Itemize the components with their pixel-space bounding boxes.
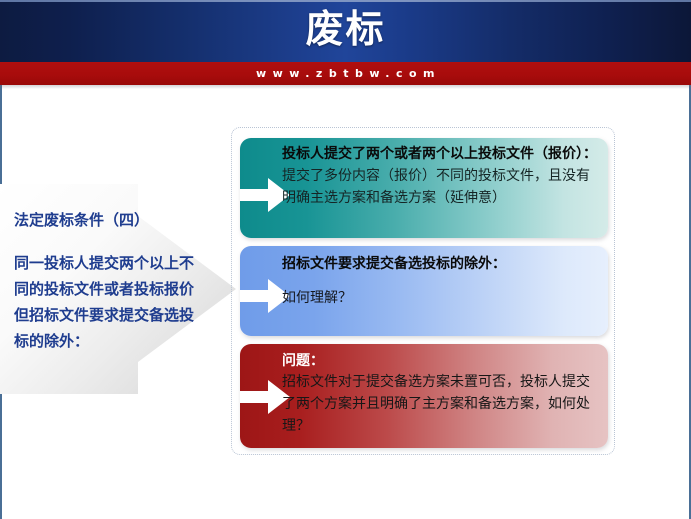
content-box-teal[interactable]: 投标人提交了两个或者两个以上投标文件（报价）： 提交了多份内容（报价）不同的投标…	[240, 138, 608, 238]
left-arrow-body: 同一投标人提交两个以上不同的投标文件或者投标报价但招标文件要求提交备选投标的除外…	[14, 250, 204, 354]
red-text-block: 问题： 招标文件对于提交备选方案未置可否，投标人提交了两个方案并且明确了主方案和…	[282, 351, 600, 437]
teal-box-title: 投标人提交了两个或者两个以上投标文件（报价）：	[282, 144, 600, 165]
header-top-highlight	[0, 0, 691, 2]
header-banner: 废标	[0, 0, 691, 62]
left-arrow-text-block: 法定废标条件（四） 同一投标人提交两个以上不同的投标文件或者投标报价但招标文件要…	[14, 207, 204, 354]
site-url-bar: www.zbtbw.com	[0, 62, 691, 85]
teal-text-block: 投标人提交了两个或者两个以上投标文件（报价）： 提交了多份内容（报价）不同的投标…	[282, 144, 600, 209]
content-box-blue[interactable]: 招标文件要求提交备选投标的除外： 如何理解？	[240, 246, 608, 336]
blue-box-body: 如何理解？	[282, 287, 600, 309]
teal-box-body: 提交了多份内容（报价）不同的投标文件，且没有明确主选方案和备选方案（延伸意）	[282, 165, 600, 209]
content-box-red[interactable]: 问题： 招标文件对于提交备选方案未置可否，投标人提交了两个方案并且明确了主方案和…	[240, 344, 608, 448]
page-title: 废标	[0, 6, 691, 52]
red-box-body: 招标文件对于提交备选方案未置可否，投标人提交了两个方案并且明确了主方案和备选方案…	[282, 371, 600, 437]
left-arrow-heading: 法定废标条件（四）	[14, 207, 204, 233]
blue-text-block: 招标文件要求提交备选投标的除外： 如何理解？	[282, 254, 600, 309]
site-url-text: www.zbtbw.com	[0, 62, 691, 85]
url-bar-dropshadow	[0, 85, 691, 89]
slide-canvas: 废标 www.zbtbw.com 法定废标条件（四） 同一投标人提交两个以上不同…	[0, 0, 691, 519]
blue-box-title: 招标文件要求提交备选投标的除外：	[282, 254, 600, 275]
red-box-title: 问题：	[282, 351, 600, 371]
